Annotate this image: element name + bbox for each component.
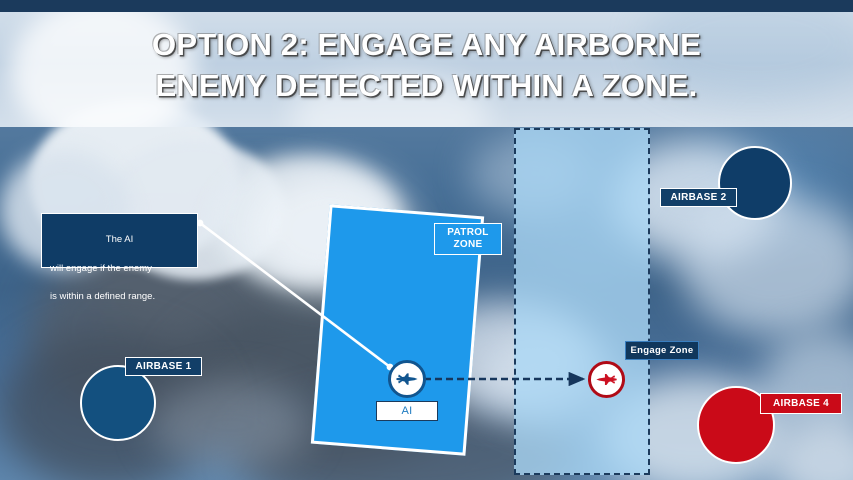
- callout-line-3: is within a defined range.: [50, 290, 189, 304]
- airbase-4-label: AIRBASE 4: [760, 393, 842, 414]
- airbase-1-label: AIRBASE 1: [125, 357, 202, 376]
- top-accent-bar: [0, 0, 853, 12]
- cloud-shape: [150, 380, 310, 470]
- page-title: OPTION 2: ENGAGE ANY AIRBORNE ENEMY DETE…: [0, 24, 853, 106]
- ai-unit-label: AI: [376, 401, 438, 421]
- airbase-2-marker[interactable]: [718, 146, 792, 220]
- ai-behaviour-callout: The AI will engage if the enemy is withi…: [41, 213, 198, 268]
- callout-line-1: The AI: [50, 233, 189, 247]
- engage-zone-area: [514, 128, 650, 475]
- airbase-2-label: AIRBASE 2: [660, 188, 737, 207]
- slide-canvas: OPTION 2: ENGAGE ANY AIRBORNE ENEMY DETE…: [0, 0, 853, 480]
- enemy-jet-marker[interactable]: [588, 361, 625, 398]
- jet-fighter-icon: [394, 366, 420, 392]
- ai-jet-marker[interactable]: [388, 360, 426, 398]
- patrol-zone-label: PATROL ZONE: [434, 223, 502, 255]
- engage-zone-label: Engage Zone: [625, 341, 699, 360]
- callout-line-2: will engage if the enemy: [50, 262, 189, 276]
- jet-fighter-icon: [594, 367, 619, 392]
- airbase-1-marker[interactable]: [80, 365, 156, 441]
